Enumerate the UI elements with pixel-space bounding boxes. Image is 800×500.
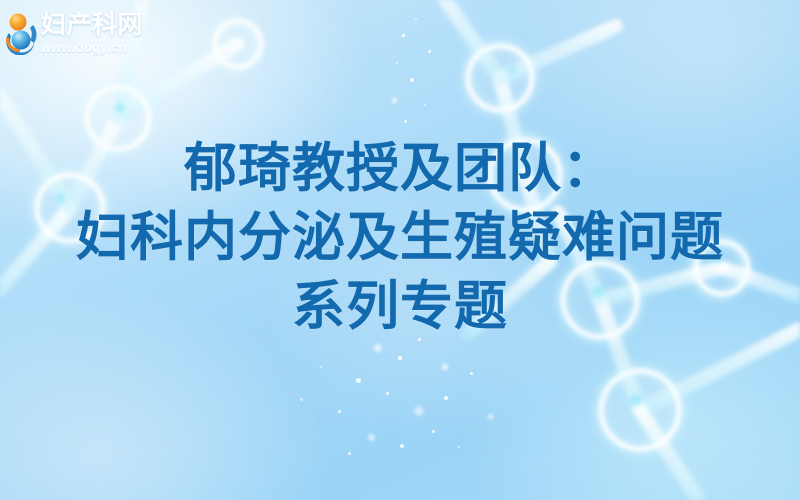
headline-line-3: 系列专题 [0, 272, 800, 341]
headline-line-2: 妇科内分泌及生殖疑难问题 [0, 203, 800, 272]
headline-title: 郁琦教授及团队： 妇科内分泌及生殖疑难问题 系列专题 [0, 134, 800, 341]
logo-site-name: 妇产科网 [41, 13, 143, 38]
logo-swoosh-icon [4, 13, 38, 55]
logo-text-block: 妇产科网 www.obgy.cn [41, 13, 143, 55]
poster-banner: 妇产科网 www.obgy.cn 郁琦教授及团队： 妇科内分泌及生殖疑难问题 系… [0, 0, 800, 500]
logo-site-url: www.obgy.cn [41, 42, 143, 55]
headline-line-1: 郁琦教授及团队： [0, 134, 800, 203]
site-logo[interactable]: 妇产科网 www.obgy.cn [4, 8, 184, 60]
